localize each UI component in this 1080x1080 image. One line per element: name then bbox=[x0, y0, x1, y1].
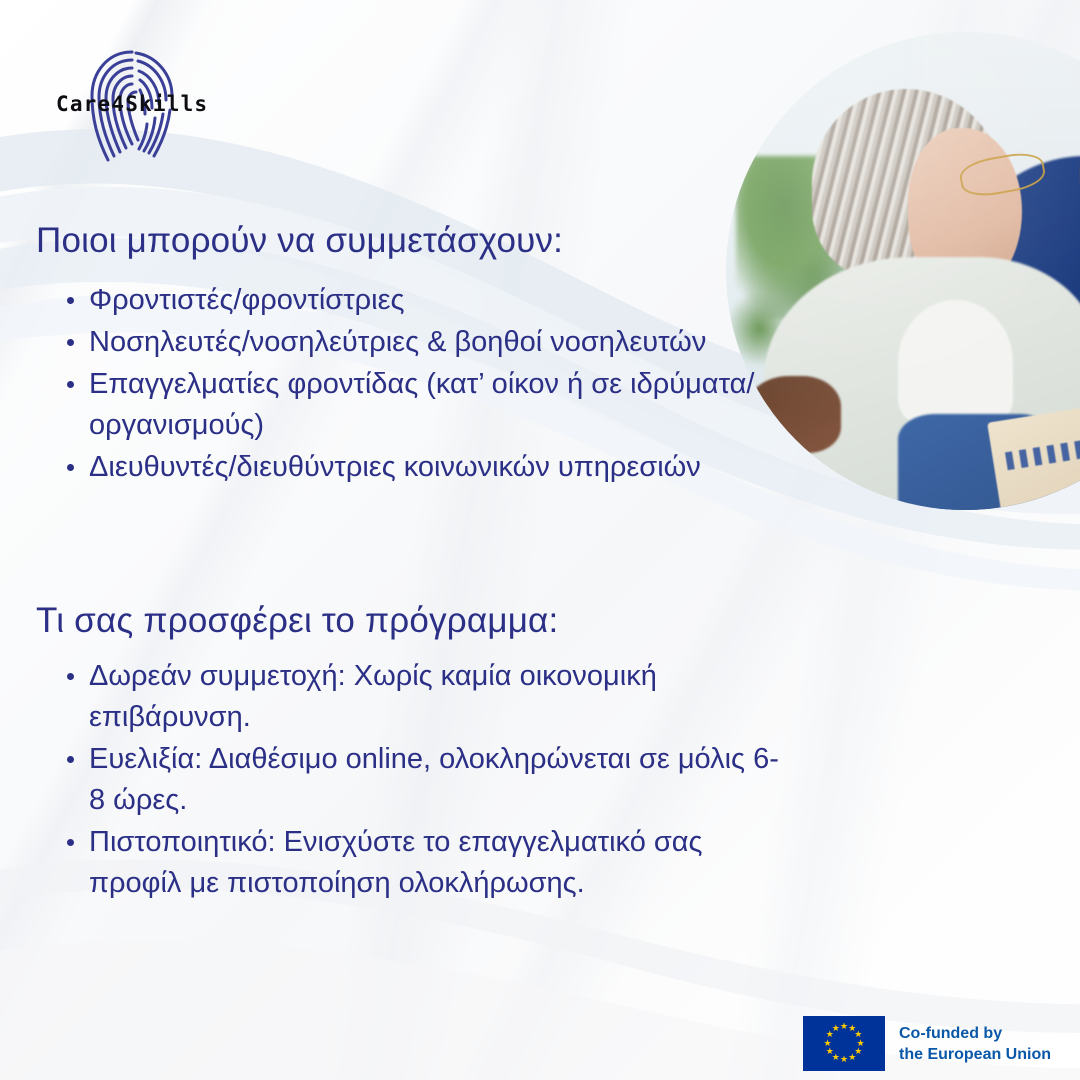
brand-logo: Care4Skills bbox=[56, 48, 246, 166]
eu-star-icon: ★ bbox=[840, 1056, 848, 1064]
section-heading-benefits: Τι σας προσφέρει το πρόγραμμα: bbox=[36, 601, 558, 641]
benefits-list: Δωρεάν συμμετοχή: Χωρίς καμία οικονομική… bbox=[62, 656, 782, 905]
section-heading-eligibility: Ποιοι μπορούν να συμμετάσχουν: bbox=[36, 221, 563, 261]
eu-funding-line2: the European Union bbox=[899, 1044, 1051, 1065]
eu-star-icon: ★ bbox=[832, 1025, 840, 1033]
eu-star-icon: ★ bbox=[824, 1040, 832, 1048]
poster-canvas: Care4Skills Ποιοι μπορούν να συ bbox=[0, 0, 1080, 1080]
list-item: Φροντιστές/φροντίστριες bbox=[62, 280, 792, 321]
list-item: Ευελιξία: Διαθέσιμο online, ολοκληρώνετα… bbox=[62, 739, 782, 821]
logo-wordmark: Care4Skills bbox=[56, 92, 208, 116]
list-item: Επαγγελματίες φροντίδας (κατ’ οίκον ή σε… bbox=[62, 364, 792, 446]
list-item: Νοσηλευτές/νοσηλεύτριες & βοηθοί νοσηλευ… bbox=[62, 322, 792, 363]
eu-funding-text: Co-funded by the European Union bbox=[899, 1023, 1051, 1065]
eligibility-list: Φροντιστές/φροντίστριες Νοσηλευτές/νοσηλ… bbox=[62, 280, 792, 489]
eu-funding-badge: ★★★★★★★★★★★★ Co-funded by the European U… bbox=[803, 1016, 1051, 1071]
list-item: Διευθυντές/διευθύντριες κοινωνικών υπηρε… bbox=[62, 447, 792, 488]
eu-funding-line1: Co-funded by bbox=[899, 1023, 1051, 1044]
eu-star-icon: ★ bbox=[840, 1023, 848, 1031]
eu-star-icon: ★ bbox=[826, 1048, 834, 1056]
eu-flag-icon: ★★★★★★★★★★★★ bbox=[803, 1016, 885, 1071]
list-item: Πιστοποιητικό: Ενισχύστε το επαγγελματικ… bbox=[62, 822, 782, 904]
eu-star-icon: ★ bbox=[848, 1054, 856, 1062]
list-item: Δωρεάν συμμετοχή: Χωρίς καμία οικονομική… bbox=[62, 656, 782, 738]
